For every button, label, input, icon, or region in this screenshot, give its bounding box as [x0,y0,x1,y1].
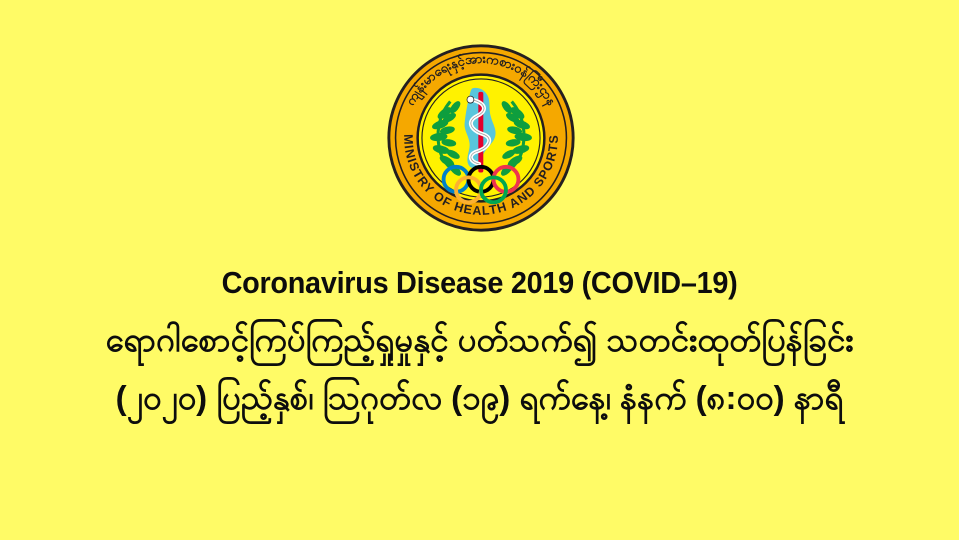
ministry-logo: ကျန်းမာရေးနှင့်အားကစားဝန်ကြီးဌာန MINISTR… [385,42,577,234]
announcement-datetime-myanmar: (၂၀၂၀) ပြည့်နှစ်၊ သြဂုတ်လ (၁၉) ရက်နေ့၊ န… [0,374,959,422]
announcement-text-block: Coronavirus Disease 2019 (COVID–19) ရောဂ… [0,266,959,422]
page-title-english: Coronavirus Disease 2019 (COVID–19) [34,266,926,300]
announcement-subject-myanmar: ရောဂါစောင့်ကြပ်ကြည့်ရှုမှုနှင့် ပတ်သက်၍ … [0,316,959,364]
covid-announcement-slide: ကျန်းမာရေးနှင့်အားကစားဝန်ကြီးဌာန MINISTR… [0,0,959,540]
